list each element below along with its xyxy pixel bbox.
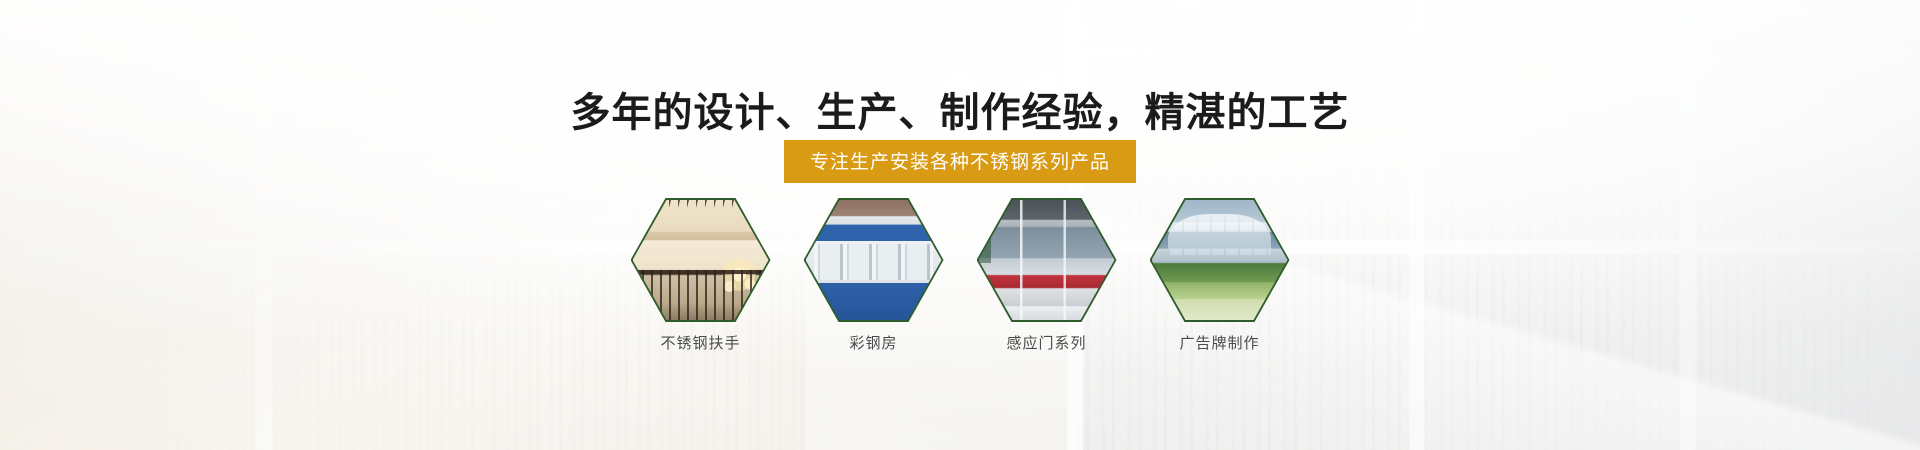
hexagon-inner <box>633 200 769 320</box>
hexagon-frame <box>1150 198 1290 322</box>
product-label: 广告牌制作 <box>1150 332 1290 353</box>
banner-headline: 多年的设计、生产、制作经验，精湛的工艺 <box>0 80 1920 138</box>
banner-subtitle-wrapper: 专注生产安装各种不锈钢系列产品 <box>0 140 1920 183</box>
promo-banner: 多年的设计、生产、制作经验，精湛的工艺 专注生产安装各种不锈钢系列产品 不锈钢扶… <box>0 0 1920 450</box>
product-item-sensor-door[interactable]: 感应门系列 <box>977 198 1117 353</box>
product-label: 彩钢房 <box>804 332 944 353</box>
hexagon-inner <box>1152 200 1288 320</box>
banner-content: 多年的设计、生产、制作经验，精湛的工艺 专注生产安装各种不锈钢系列产品 不锈钢扶… <box>0 0 1920 450</box>
product-item-handrail[interactable]: 不锈钢扶手 <box>631 198 771 353</box>
product-label: 不锈钢扶手 <box>631 332 771 353</box>
billboard-photo-icon <box>1152 200 1288 320</box>
sensor-door-photo-icon <box>979 200 1115 320</box>
handrail-photo-icon <box>633 200 769 320</box>
product-item-billboard[interactable]: 广告牌制作 <box>1150 198 1290 353</box>
hexagon-inner <box>979 200 1115 320</box>
hexagon-inner <box>806 200 942 320</box>
color-steel-cabin-photo-icon <box>806 200 942 320</box>
hexagon-frame <box>631 198 771 322</box>
hexagon-frame <box>977 198 1117 322</box>
product-label: 感应门系列 <box>977 332 1117 353</box>
product-hexagon-row: 不锈钢扶手 彩钢房 感应门系列 <box>0 198 1920 353</box>
hexagon-frame <box>804 198 944 322</box>
banner-subtitle-badge: 专注生产安装各种不锈钢系列产品 <box>784 140 1136 183</box>
product-item-color-steel-cabin[interactable]: 彩钢房 <box>804 198 944 353</box>
